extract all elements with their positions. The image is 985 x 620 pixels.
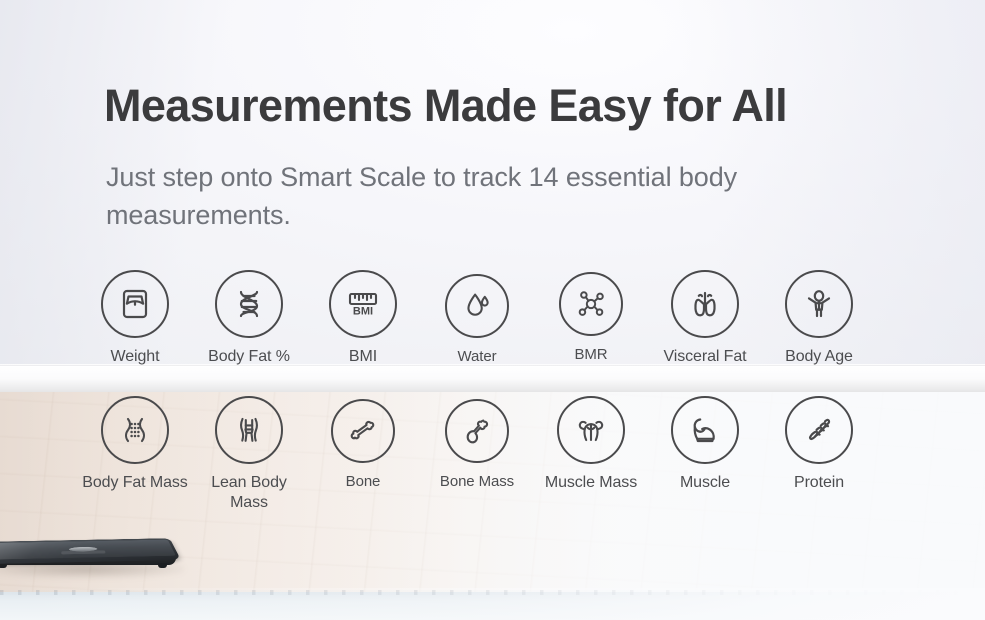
metric-protein[interactable]: Protein bbox=[762, 396, 876, 516]
metric-bone-mass[interactable]: Bone Mass bbox=[420, 396, 534, 516]
metric-label: Bone Mass bbox=[440, 472, 514, 492]
metric-label: Body Fat Mass bbox=[82, 473, 187, 493]
metric-bone[interactable]: Bone bbox=[306, 396, 420, 516]
metric-bmr[interactable]: BMR bbox=[534, 270, 648, 396]
metric-muscle[interactable]: Muscle bbox=[648, 396, 762, 516]
metric-weight[interactable]: Weight bbox=[78, 270, 192, 396]
metric-label: Lean Body Mass bbox=[194, 473, 304, 513]
person-arms-raised-icon bbox=[785, 270, 853, 338]
metric-label: Body Fat % bbox=[208, 347, 290, 367]
measurements-row-1: Weight Body Fat % bbox=[78, 270, 908, 396]
measurements-row-2: Body Fat Mass Lean Body Mass bbox=[78, 396, 908, 516]
metric-bmi[interactable]: BMI BMI bbox=[306, 270, 420, 396]
page-subtitle: Just step onto Smart Scale to track 14 e… bbox=[106, 158, 896, 234]
metric-body-fat-percent[interactable]: Body Fat % bbox=[192, 270, 306, 396]
page-title: Measurements Made Easy for All bbox=[104, 80, 787, 132]
metric-visceral-fat[interactable]: Visceral Fat bbox=[648, 270, 762, 396]
metric-label: Visceral Fat bbox=[664, 347, 747, 367]
bone-cross-section-icon bbox=[445, 399, 509, 463]
metric-label: Protein bbox=[794, 473, 844, 493]
metric-body-age[interactable]: Body Age bbox=[762, 270, 876, 396]
water-drop-icon bbox=[445, 274, 509, 338]
metric-label: Weight bbox=[111, 347, 160, 367]
molecule-icon bbox=[559, 272, 623, 336]
metric-label: Water bbox=[458, 347, 497, 367]
torso-outline-icon bbox=[215, 396, 283, 464]
bone-icon bbox=[331, 399, 395, 463]
dna-helix-icon bbox=[215, 270, 283, 338]
promo-banner: Measurements Made Easy for All Just step… bbox=[0, 0, 985, 620]
metric-label: Bone bbox=[346, 472, 381, 492]
ruler-bmi-icon: BMI bbox=[329, 270, 397, 338]
bathroom-scale-icon bbox=[101, 270, 169, 338]
metric-label: BMI bbox=[349, 347, 377, 367]
fat-cells-icon bbox=[101, 396, 169, 464]
metric-label: Muscle bbox=[680, 473, 730, 493]
lungs-icon bbox=[671, 270, 739, 338]
metric-lean-body-mass[interactable]: Lean Body Mass bbox=[192, 396, 306, 516]
measurements-grid: Weight Body Fat % bbox=[78, 270, 908, 516]
metric-water[interactable]: Water bbox=[420, 270, 534, 396]
flexed-bicep-icon bbox=[671, 396, 739, 464]
metric-label: Muscle Mass bbox=[545, 473, 637, 493]
metric-label: Body Age bbox=[785, 347, 853, 367]
metric-body-fat-mass[interactable]: Body Fat Mass bbox=[78, 396, 192, 516]
flexing-torso-icon bbox=[557, 396, 625, 464]
svg-text:BMI: BMI bbox=[353, 306, 373, 318]
protein-ribbon-icon bbox=[785, 396, 853, 464]
metric-label: BMR bbox=[574, 345, 607, 365]
metric-muscle-mass[interactable]: Muscle Mass bbox=[534, 396, 648, 516]
